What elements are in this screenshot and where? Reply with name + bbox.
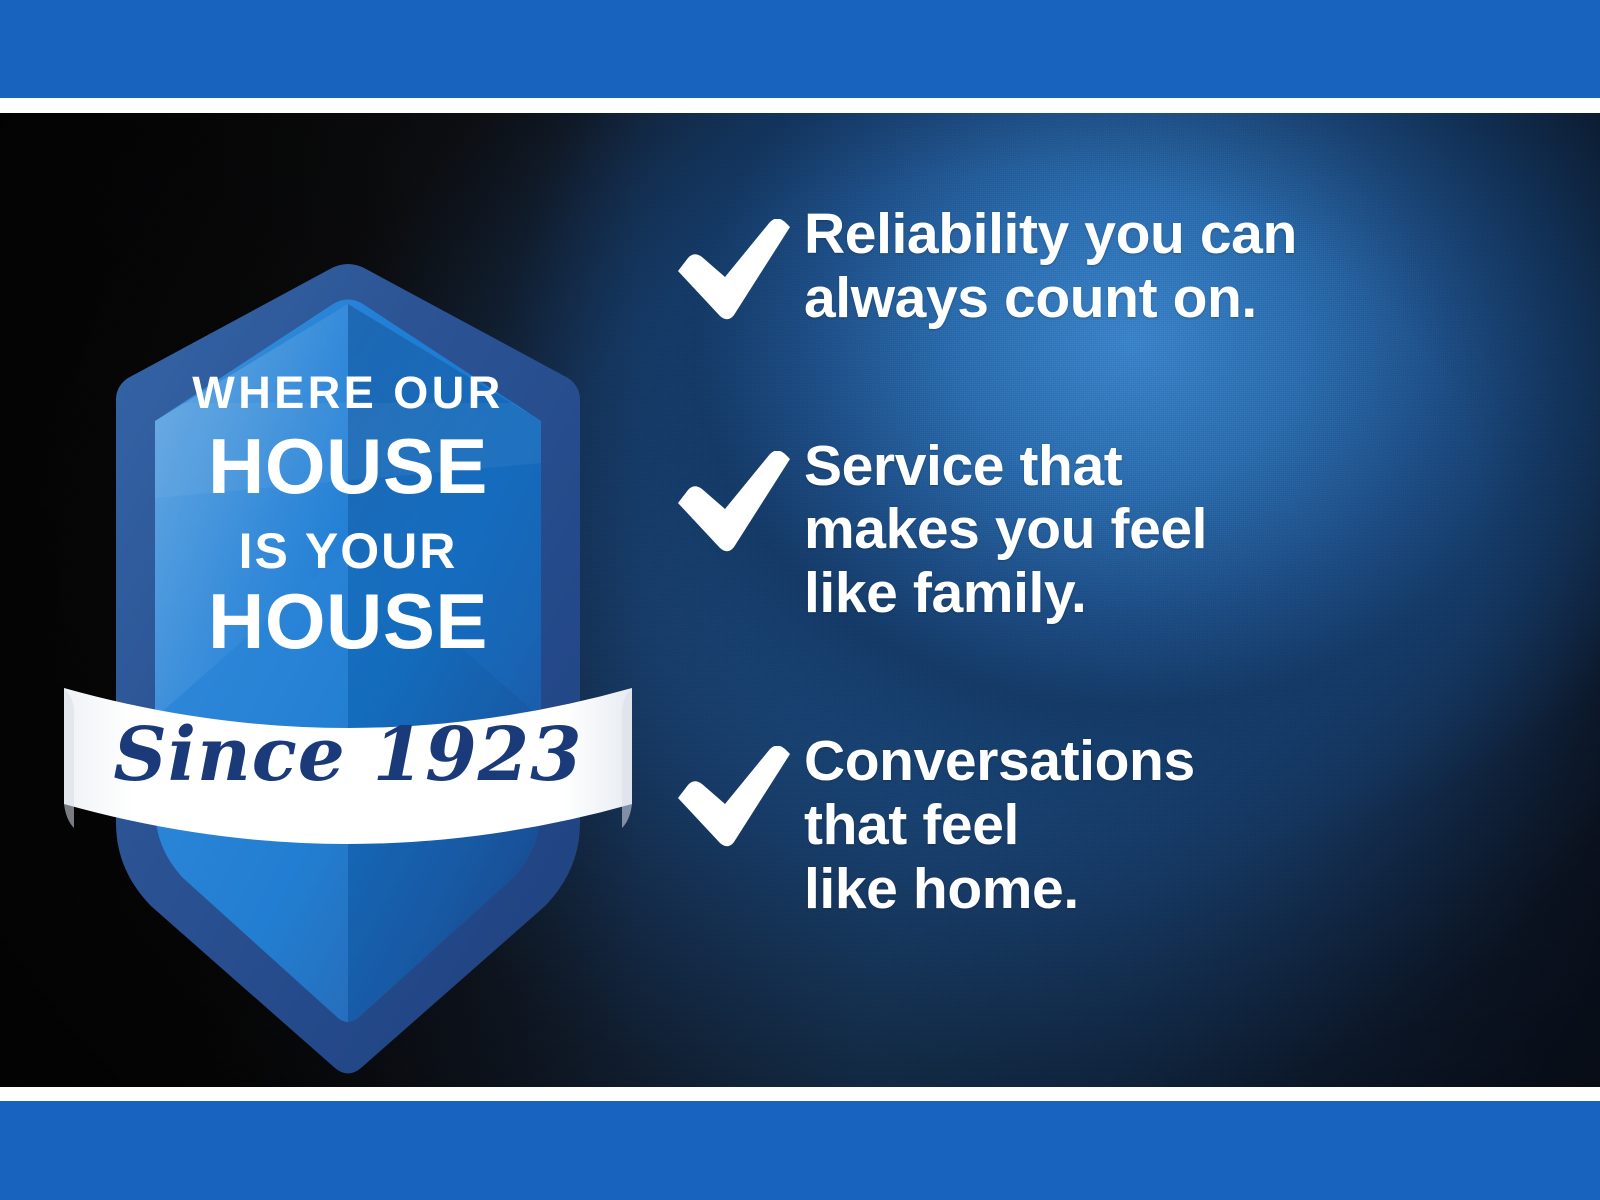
check-icon [672,203,804,323]
bottom-accent-bar [0,1101,1600,1200]
top-accent-bar [0,0,1600,98]
check-icon [672,730,804,850]
list-item: Service that makes you feel like family. [672,435,1552,626]
shield-line-1: WHERE OUR [192,367,504,418]
list-item: Reliability you can always count on. [672,203,1552,331]
list-item: Conversations that feel like home. [672,730,1552,921]
shield-line-2: HOUSE [208,422,488,510]
shield-line-4: HOUSE [208,577,488,665]
check-icon [672,435,804,555]
list-item-label: Service that makes you feel like family. [804,435,1207,626]
main-canvas: WHERE OUR HOUSE IS YOUR HOUSE Since 1923… [0,113,1600,1087]
top-divider-strip [0,98,1600,113]
ribbon-label: Since 1923 [113,712,582,798]
list-item-label: Conversations that feel like home. [804,730,1195,921]
ribbon-left-fold [64,688,74,828]
shield-line-3: IS YOUR [239,523,458,579]
since-ribbon: Since 1923 [64,688,632,844]
list-item-label: Reliability you can always count on. [804,203,1297,331]
benefits-list: Reliability you can always count on. Ser… [672,203,1552,922]
bottom-divider-strip [0,1087,1600,1101]
shield-badge: WHERE OUR HOUSE IS YOUR HOUSE Since 1923 [58,248,638,938]
ribbon-right-fold [622,688,632,828]
